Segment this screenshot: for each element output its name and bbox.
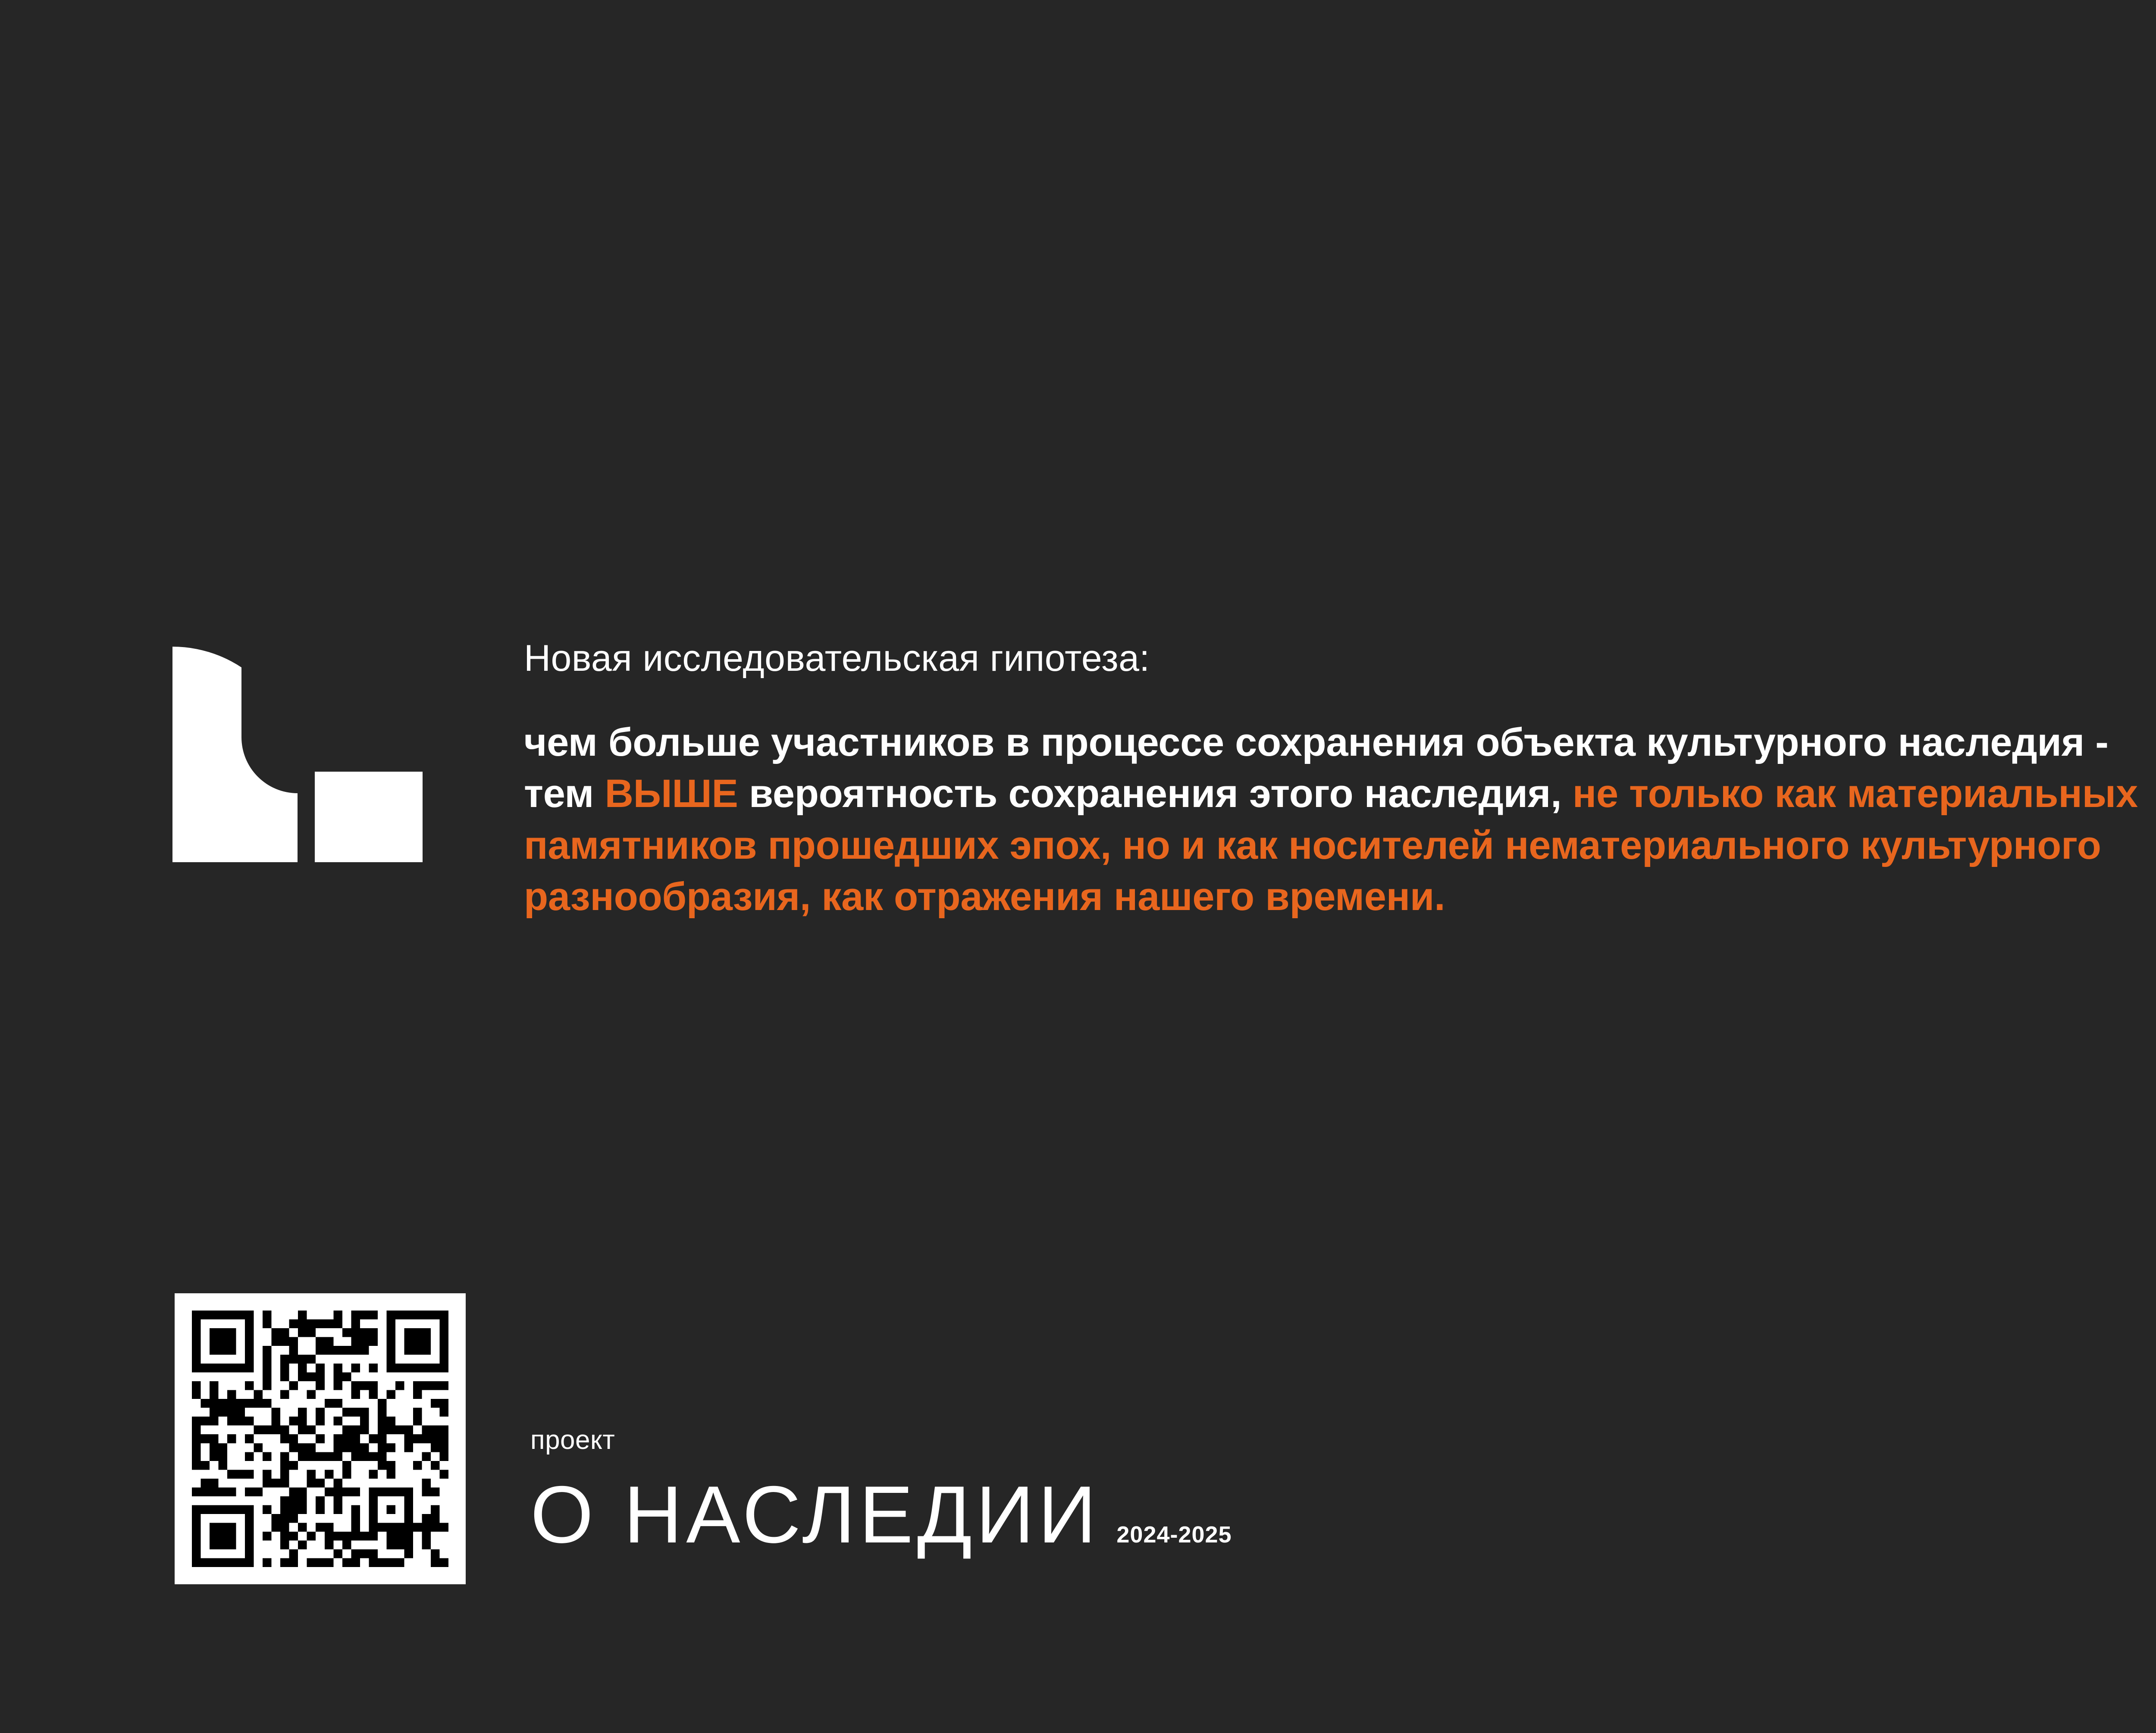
quote-text-block: Новая исследовательская гипотеза: чем бо… bbox=[524, 638, 2156, 923]
project-branding: проект О НАСЛЕДИИ 2024-2025 bbox=[530, 1427, 1651, 1553]
qr-code-canvas bbox=[192, 1311, 448, 1567]
project-title-row: О НАСЛЕДИИ 2024-2025 bbox=[530, 1476, 1651, 1553]
quote-open-icon bbox=[172, 647, 390, 862]
quote-open-right-shape bbox=[315, 772, 423, 862]
quote-open-left-shape bbox=[172, 647, 298, 862]
line2-segment-1: тем bbox=[524, 772, 605, 816]
project-title: О НАСЛЕДИИ bbox=[530, 1476, 1100, 1553]
presentation-slide: Новая исследовательская гипотеза: чем бо… bbox=[0, 0, 2156, 1733]
hypothesis-line-2: тем ВЫШЕ вероятность сохранения этого на… bbox=[524, 768, 2156, 820]
qr-code-icon[interactable] bbox=[175, 1293, 466, 1584]
quote-open-left-notch bbox=[241, 647, 298, 793]
project-years: 2024-2025 bbox=[1116, 1521, 1232, 1548]
hypothesis-line-4: разнообразия, как отражения нашего време… bbox=[524, 871, 2156, 923]
hypothesis-lead-line: Новая исследовательская гипотеза: bbox=[524, 638, 2156, 679]
hypothesis-body: чем больше участников в процессе сохране… bbox=[524, 717, 2156, 923]
hypothesis-line-1: чем больше участников в процессе сохране… bbox=[524, 717, 2156, 769]
hypothesis-line-3: памятников прошедших эпох, но и как носи… bbox=[524, 820, 2156, 872]
line2-segment-3: вероятность сохранения этого наследия, bbox=[738, 772, 1573, 816]
project-kicker-label: проект bbox=[530, 1427, 1651, 1454]
line2-segment-4: не только как материальных bbox=[1573, 772, 2138, 816]
line2-emphasis-vyshe: ВЫШЕ bbox=[605, 772, 738, 816]
